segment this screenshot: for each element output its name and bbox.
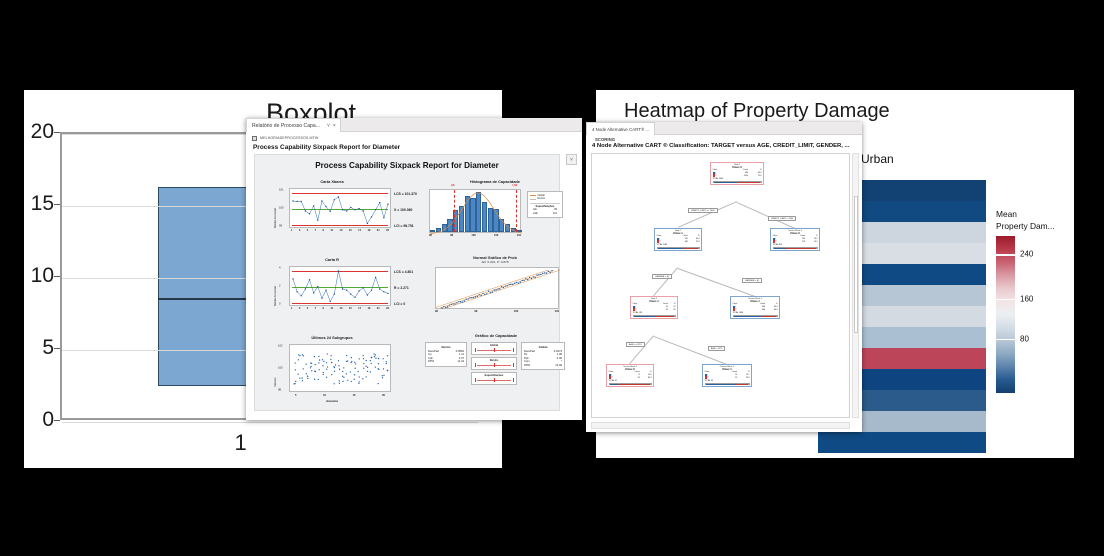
tree-node-bar (633, 315, 676, 318)
x-tick-label: 17 (358, 229, 361, 232)
x-tick-label: 5 (307, 307, 308, 310)
xbar-chart-plot (289, 188, 391, 228)
legend-row: Dentro (530, 197, 560, 201)
stats-row: PPM12.00 (524, 364, 562, 368)
r-chart-series (290, 267, 392, 307)
worksheet-name: MELHORIADEPROCESSOS.MTW (260, 136, 318, 140)
desktop-canvas: Boxplot 20151050 12 Heatmap of Property … (0, 0, 1104, 556)
xbar-chart-series (290, 189, 392, 229)
tree-node-total: TOTAL 138 (633, 312, 676, 314)
tree-node-total: TOTAL 1186 (657, 244, 700, 246)
tree-node-bar (733, 315, 778, 318)
histogram-plot (429, 189, 521, 233)
tree-node-cell: 70.5 (805, 240, 817, 243)
last-subgroups-title: Últimos 24 Subgrupos (273, 335, 391, 340)
x-tick-label: 1 (291, 229, 292, 232)
x-tick-label: 98 (450, 234, 453, 237)
report-title: Process Capability Sixpack Report for Di… (255, 155, 559, 174)
probability-points (436, 268, 560, 310)
process-capability-heading: Process Capability Sixpack Report for Di… (246, 142, 582, 154)
bar-segment-class0 (737, 182, 761, 183)
legend-swatch (530, 195, 536, 196)
tree-node-cell: 384 (748, 308, 765, 311)
y-tick-label: 0 (42, 408, 54, 432)
colorbar-tick (996, 254, 1015, 255)
r-chart-y-tick: 2 (279, 285, 281, 288)
spec-limit-label: LIE (451, 184, 455, 187)
class-swatch (733, 308, 735, 310)
bar-segment-class0 (736, 384, 748, 385)
tree-node-cell: 51.0 (748, 174, 761, 177)
last-subgroups-x-ticks: 5101520 (295, 394, 385, 397)
heatmap-legend-title-line1: Mean (996, 208, 1074, 220)
heatmap-legend-title: Mean Property Dam... (996, 208, 1074, 232)
x-tick-label: 20 (382, 394, 385, 397)
cart-tabstrip: 4 Node Alternative CART® ... (586, 122, 862, 135)
bar-segment-class0 (786, 248, 816, 249)
spec-key: LSE (533, 212, 538, 216)
band-tick (494, 378, 495, 382)
collapse-button[interactable]: ˅ (566, 154, 577, 165)
tree-node-cell: 29.3 (737, 376, 749, 379)
x-tick-label: 11 (330, 229, 333, 232)
tree-node[interactable]: Terminal Node 2Class 1ClassCount% 17070.… (702, 364, 752, 387)
band-tick (475, 378, 476, 382)
tree-edge (630, 336, 654, 364)
band-tick (513, 363, 514, 367)
boxplot-x-axis-labels: 12 (60, 424, 480, 458)
x-tick-label: 7 (315, 307, 316, 310)
tree-node-bar (713, 181, 762, 184)
close-icon[interactable]: × (333, 123, 336, 129)
x-tick-label: 98 (474, 310, 477, 313)
bar-segment-class0 (761, 316, 777, 317)
heatmap-title: Heatmap of Property Damage (624, 100, 890, 123)
occluder-gap-center (502, 0, 596, 100)
capability-histogram: Histograma de CapacidadeLIELSE9698100102… (423, 179, 567, 245)
tree-split-label: CREDIT_LIMIT > 7540 (768, 216, 796, 221)
colorbar-tick (996, 339, 1015, 340)
band-tick (513, 348, 514, 352)
tree-node-table: ClassCount% 1819.5 03380.5 (609, 371, 652, 379)
bar-segment-class1 (610, 384, 618, 385)
x-tick-label: 13 (340, 229, 343, 232)
x-tick-label: 104 (555, 310, 559, 313)
worksheet-bar: MELHORIADEPROCESSOS.MTW (246, 132, 582, 142)
spec-limit-label: LSE (513, 184, 518, 187)
x-tick-label: 19 (367, 307, 370, 310)
tree-split-label: GENDER = (f) (742, 278, 762, 283)
band-tick (494, 363, 495, 367)
capability-bands: GlobalDentroEspecificações (471, 342, 517, 387)
xbar-chart-x-ticks: 1357911131517192123 (291, 229, 389, 232)
last-subgroups-x-label: Amostra (273, 399, 391, 403)
spec-limit-line (516, 190, 517, 232)
tree-node-cell: 36.6 (765, 308, 777, 311)
normal-prob-plot: Normal Gráfico de ProbAD: 0.201, P: 0.87… (423, 255, 567, 321)
tree-node-table: ClassCount% 124029.5 057470.5 (773, 235, 818, 243)
capability-band: Dentro (471, 357, 517, 370)
tree-node-cell: 1020 (730, 174, 748, 177)
capability-band-line (474, 347, 514, 353)
tree-node-total: TOTAL 99 (705, 380, 750, 382)
tree-split-label: CREDIT_LIMIT <= 7540 (688, 208, 718, 213)
tree-node-cell: 0 (733, 308, 749, 311)
occluder-gap-center-bottom (502, 432, 596, 472)
tree-node-bar (657, 247, 700, 250)
stats-within-box: DentroDesvPad0.9566Cp1.11Cpk0.37PPM11.43 (425, 342, 467, 367)
tree-node-table: ClassCount% 198049.0 0102051.0 (713, 169, 762, 177)
bar-segment-class0 (656, 316, 674, 317)
x-tick-label: 15 (349, 307, 352, 310)
process-capability-window[interactable]: Relatório de Processo Capa... ˅ × MELHOR… (246, 118, 582, 420)
tree-node-table: ClassCount% 174062.4 044637.6 (657, 235, 700, 243)
heatmap-legend-title-line2: Property Dam... (996, 220, 1074, 232)
tab-buttons: ˅ × (327, 123, 336, 129)
cart-window[interactable]: 4 Node Alternative CART® ... SCORING 4 N… (586, 122, 862, 432)
tree-node-cell: 45 (668, 308, 676, 311)
capability-band: Especificações (471, 372, 517, 385)
bar-segment-class1 (658, 248, 683, 249)
class-swatch (773, 240, 775, 242)
cart-tree-canvas: CREDIT_LIMIT <= 7540CREDIT_LIMIT > 7540G… (591, 153, 850, 418)
x-tick-label: 13 (340, 307, 343, 310)
bar-segment-class1 (706, 384, 737, 385)
tree-node-cell: 29 (720, 376, 737, 379)
tree-node-cell: 0 (609, 376, 624, 379)
horizontal-scrollbar[interactable] (591, 422, 850, 429)
xbar-chart-y-tick: 99 (279, 225, 282, 228)
x-tick-label: 1 (234, 430, 246, 456)
heatmap-colorbar-ticks: 24016080 (1020, 236, 1066, 393)
colorbar-tick-label: 80 (1020, 335, 1029, 344)
stat-value: 12.00 (555, 364, 562, 368)
stats-row: PPM11.43 (428, 360, 464, 364)
tree-node-cell: 0 (705, 376, 721, 379)
normal-plot-subtitle: AD: 0.201, P: 0.878 (423, 260, 567, 264)
class-swatch (713, 174, 715, 176)
tree-edge (678, 201, 737, 228)
y-tick (54, 420, 60, 421)
stat-value: 11.43 (457, 360, 464, 364)
worksheet-icon (252, 136, 257, 141)
xbar-chart-y-label: Média Amostral (273, 190, 277, 228)
xbar-chart-y-tick: 101 (279, 189, 283, 192)
last-subgroups-chart: Últimos 24 SubgruposValores1021009851015… (273, 335, 391, 405)
heatmap-colorbar (996, 236, 1015, 393)
bar-segment-class1 (634, 316, 657, 317)
r-chart-annotation: LCI = 0 (394, 302, 405, 306)
colorbar-tick-label: 160 (1020, 295, 1033, 304)
tree-node[interactable]: Node 3Class 1ClassCount% 17655 06245TOTA… (630, 296, 678, 319)
r-chart: Carta RMédia Amostral4201357911131517192… (273, 257, 391, 319)
tree-node-cell: 446 (672, 240, 688, 243)
tree-node[interactable]: Node 1Class 0ClassCount% 198049.0 010205… (710, 162, 764, 185)
y-tick-label: 15 (31, 192, 54, 216)
tree-split-label: AGE > 32.5 (708, 346, 725, 351)
x-tick-label: 1 (291, 307, 292, 310)
xbar-chart-y-tick: 100 (279, 207, 283, 210)
capability-band-line (474, 377, 514, 383)
histogram-legend: GlobalDentroEspecificaçõesLIE99LSE101 (527, 191, 563, 218)
stats-overall-header: Global (524, 345, 562, 349)
tree-split-label: GENDER = (f) (652, 274, 672, 279)
tree-node-cell: 0 (657, 240, 672, 243)
normal-curve (430, 190, 522, 234)
stats-within-header: Dentro (428, 345, 464, 349)
tree-node-total: TOTAL 1048 (733, 312, 778, 314)
capability-band: Global (471, 342, 517, 355)
legend-swatch (530, 199, 536, 200)
occluder-bottom (0, 468, 1104, 556)
x-tick-label: 9 (323, 307, 324, 310)
tree-node-table: ClassCount% 17070.7 02929.3 (705, 371, 750, 379)
tree-node-cell: 62 (650, 308, 668, 311)
tree-node-total: TOTAL 41 (609, 380, 652, 382)
normal-plot-x-ticks: 9698100104 (435, 310, 559, 313)
x-tick-label: 5 (295, 394, 296, 397)
gridline (62, 422, 478, 423)
last-subgroups-plot (289, 344, 391, 392)
x-tick-label: 17 (358, 307, 361, 310)
tree-node-bar (609, 383, 652, 386)
stats-overall-box: GlobalDesvPad0.9473Pp1.08Ppk0.36Cpm*PPM1… (521, 342, 565, 370)
x-tick-label: 96 (429, 234, 432, 237)
tab-process-capability-report[interactable]: Relatório de Processo Capa... ˅ × (246, 118, 341, 132)
x-tick-label: 23 (386, 307, 389, 310)
r-chart-y-tick: 0 (279, 303, 281, 306)
tree-node-cell: 0 (633, 308, 650, 311)
x-tick-label: 3 (299, 307, 300, 310)
r-chart-x-ticks: 1357911131517192123 (291, 307, 389, 310)
process-capability-report: Process Capability Sixpack Report for Di… (254, 154, 560, 411)
cart-heading: 4 Node Alternative CART ® Classification… (586, 143, 862, 152)
x-tick-label: 102 (494, 234, 498, 237)
band-tick (513, 378, 514, 382)
tree-node-cell: 37.6 (688, 240, 700, 243)
bar-segment-class1 (774, 248, 787, 249)
tree-node-table: ClassCount% 17655 06245 (633, 303, 676, 311)
y-tick-label: 5 (42, 336, 54, 360)
histogram-x-ticks: 9698100102104 (429, 234, 521, 237)
class-swatch (633, 308, 635, 310)
bar-segment-class1 (714, 182, 737, 183)
x-tick-label: 15 (349, 229, 352, 232)
x-tick-label: 7 (315, 229, 316, 232)
tree-node-total: TOTAL 814 (773, 244, 818, 246)
x-tick-label: 3 (299, 229, 300, 232)
tree-node-cell: 0 (713, 174, 730, 177)
r-chart-y-label: Média Amostral (273, 268, 277, 306)
bar-segment-class1 (734, 316, 761, 317)
spec-value: 101 (553, 212, 557, 216)
legend-label: Dentro (538, 197, 546, 201)
colorbar-tick (996, 299, 1015, 300)
xbar-chart-annotation: LCI = 98.751 (394, 224, 414, 228)
band-tick (494, 348, 495, 352)
y-tick-label: 100 (278, 367, 282, 370)
chevron-down-icon[interactable]: ˅ (327, 123, 330, 129)
tree-node-cell: 33 (624, 376, 640, 379)
xbar-chart-title: Carta Xbarra (273, 179, 391, 184)
tree-node[interactable]: Terminal Node 3Class 1ClassCount% 166463… (730, 296, 780, 319)
occluder-left (0, 0, 24, 556)
tree-node-total: TOTAL 2000 (713, 178, 762, 180)
tree-node-table: ClassCount% 166463.4 038436.6 (733, 303, 778, 311)
y-tick-label: 20 (31, 120, 54, 144)
tree-node-cell: 0 (773, 240, 789, 243)
process-capability-tabstrip: Relatório de Processo Capa... ˅ × (246, 118, 582, 132)
normal-plot-area (435, 267, 559, 309)
r-chart-title: Carta R (273, 257, 391, 262)
class-swatch (705, 376, 707, 378)
scrollbar-thumb[interactable] (854, 196, 858, 333)
bar-segment-class0 (618, 384, 651, 385)
x-tick-label: 5 (307, 229, 308, 232)
x-tick-label: 100 (471, 234, 475, 237)
tree-split-label: AGE <= 32.5 (626, 342, 645, 347)
x-tick-label: 15 (353, 394, 356, 397)
heatmap-column-header: Urban (861, 152, 894, 166)
tree-edge (654, 268, 678, 296)
cart-section-label: SCORING (586, 135, 862, 143)
stat-key: PPM (428, 360, 434, 364)
y-tick-label: 10 (31, 264, 54, 288)
occluder-right (1074, 0, 1104, 556)
histogram-title: Histograma de Capacidade (423, 179, 567, 184)
r-chart-y-tick: 4 (279, 267, 281, 270)
class-swatch (609, 376, 611, 378)
tree-node[interactable]: Node 2Class 1ClassCount% 174062.4 044637… (654, 228, 702, 251)
x-tick-label: 100 (514, 310, 518, 313)
tab-cart-classification[interactable]: 4 Node Alternative CART® ... (586, 122, 655, 135)
x-tick-label: 96 (435, 310, 438, 313)
spec-limit-line (454, 190, 455, 232)
y-tick-label: 102 (278, 345, 282, 348)
stat-key: PPM (524, 364, 530, 368)
scatter-points (290, 345, 392, 393)
y-tick-label: 98 (278, 389, 281, 392)
tree-node-cell: 80.5 (640, 376, 652, 379)
heatmap-legend: Mean Property Dam... 24016080 (996, 208, 1074, 393)
x-tick-label: 9 (323, 229, 324, 232)
xbar-chart-annotation: X = 100.060 (394, 208, 412, 212)
tab-label: Relatório de Processo Capa... (252, 123, 320, 129)
band-tick (475, 363, 476, 367)
xbar-chart: Carta XbarraMédia Amostral10110099135791… (273, 179, 391, 241)
capability-plot-title: Gráfico de Capacidade (421, 333, 571, 338)
x-tick-label: 104 (517, 234, 521, 237)
boxplot-y-axis-labels: 20151050 (24, 132, 58, 420)
capability-plot: Gráfico de CapacidadeDentroDesvPad0.9566… (421, 333, 571, 407)
r-chart-annotation: LCS = 4.801 (394, 270, 413, 274)
tree-node-bar (705, 383, 750, 386)
r-chart-plot (289, 266, 391, 306)
tree-node-cell: 574 (788, 240, 805, 243)
x-tick-label: 11 (330, 307, 333, 310)
r-chart-annotation: R = 2.271 (394, 286, 409, 290)
x-tick-label: 21 (377, 229, 380, 232)
colorbar-tick-label: 240 (1020, 250, 1033, 259)
last-subgroups-y-label: Valores (273, 349, 277, 387)
tree-node-bar (773, 247, 818, 250)
x-tick-label: 10 (323, 394, 326, 397)
tree-node[interactable]: Terminal Node 1Class 0ClassCount% 1819.5… (606, 364, 654, 387)
vertical-scrollbar[interactable] (852, 153, 859, 418)
heatmap-colorbar-wrap: 24016080 (996, 236, 1074, 393)
capability-band-line (474, 362, 514, 368)
heatmap-cell[interactable] (818, 432, 986, 453)
x-tick-label: 23 (386, 229, 389, 232)
legend-spec-row: LSE101 (530, 212, 560, 216)
band-tick (475, 348, 476, 352)
xbar-chart-annotation: LCS = 101.370 (394, 192, 417, 196)
tree-node[interactable]: Terminal Node 4Class 0ClassCount% 124029… (770, 228, 820, 251)
class-swatch (657, 240, 659, 242)
x-tick-label: 19 (367, 229, 370, 232)
x-tick-label: 21 (377, 307, 380, 310)
bar-segment-class0 (683, 248, 699, 249)
